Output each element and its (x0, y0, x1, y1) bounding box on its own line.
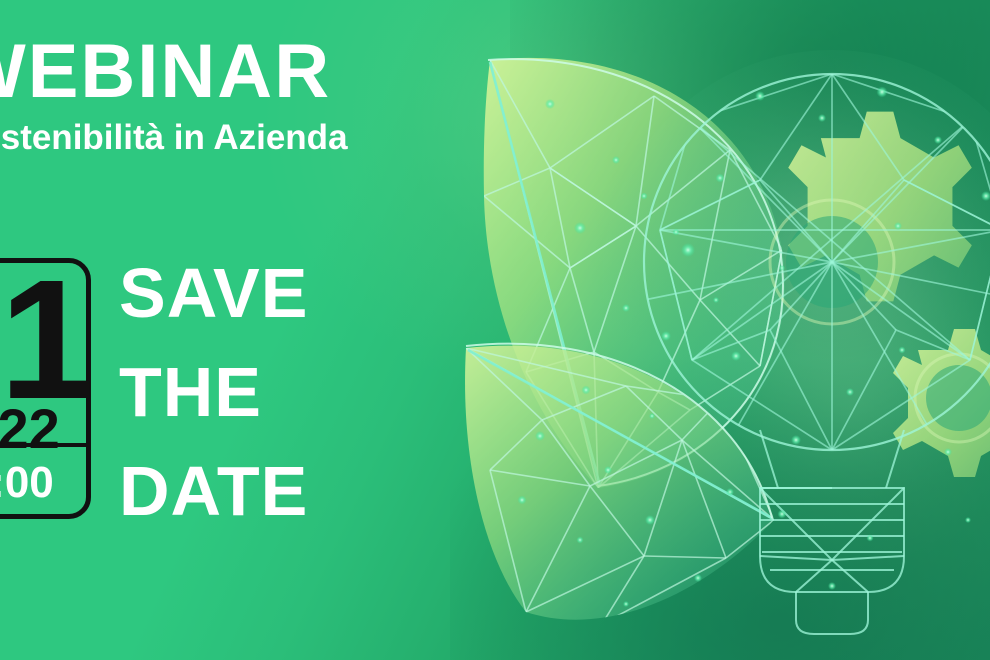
save-the-date-line: SAVE (119, 258, 419, 328)
event-time: 12:00 (0, 461, 86, 505)
calendar-divider (0, 443, 86, 447)
save-the-date-block: SAVE THE DATE (119, 258, 419, 526)
event-year: 2022 (0, 401, 86, 457)
save-the-date-line: DATE (119, 456, 419, 526)
webinar-save-the-date-banner: WEBINAR Sostenibilità in Azienda 21 2022… (0, 0, 990, 660)
save-the-date-line: THE (119, 357, 419, 427)
calendar-badge: 21 2022 12:00 (0, 258, 91, 519)
page-title: WEBINAR (0, 34, 331, 110)
subtitle: Sostenibilità in Azienda (0, 120, 348, 155)
